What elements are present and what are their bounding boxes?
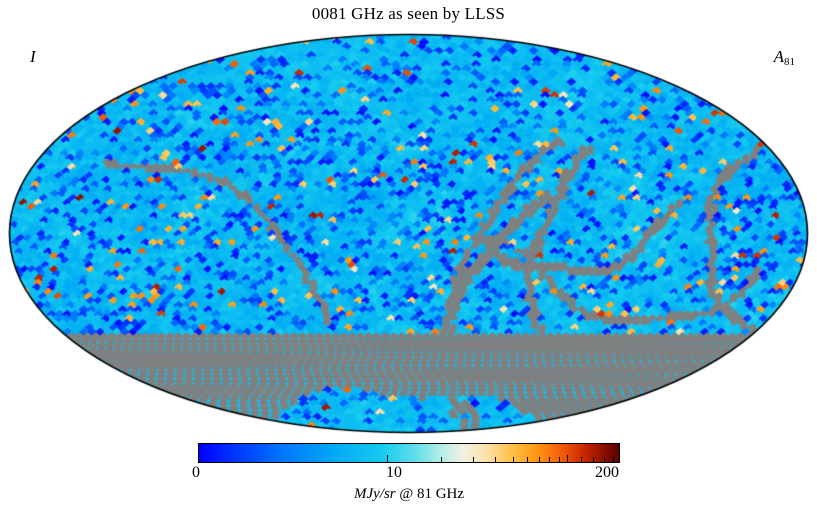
colorbar-tick (495, 457, 496, 462)
colorbar-tick (473, 457, 474, 462)
colorbar-max-label: 200 (595, 464, 619, 482)
colorbar-tick (604, 457, 605, 462)
page-title: 0081 GHz as seen by LLSS (0, 4, 817, 24)
colorbar-tick (387, 455, 388, 462)
sky-map-canvas (8, 33, 809, 434)
sky-map-figure: 0081 GHz as seen by LLSS I A81 0 10 200 … (0, 0, 817, 514)
colorbar-caption-freq: @ 81 GHz (396, 486, 464, 502)
colorbar-tick (441, 457, 442, 462)
colorbar-tick (581, 457, 582, 462)
colorbar-tick (613, 457, 614, 462)
mollweide-sky-map (8, 33, 809, 434)
colorbar-tick (549, 457, 550, 462)
colorbar-gradient (199, 444, 619, 462)
colorbar-tick (559, 457, 560, 462)
colorbar: 0 10 200 MJy/sr @ 81 GHz (198, 443, 620, 509)
colorbar-caption-units: MJy/sr (354, 486, 396, 502)
colorbar-bar (198, 443, 620, 463)
colorbar-min-label: 0 (192, 464, 200, 482)
colorbar-tick (567, 455, 568, 462)
colorbar-caption: MJy/sr @ 81 GHz (198, 486, 620, 503)
colorbar-tick (513, 457, 514, 462)
colorbar-tick (539, 457, 540, 462)
colorbar-mid-label: 10 (386, 464, 402, 482)
colorbar-tick (527, 457, 528, 462)
colorbar-tick (593, 457, 594, 462)
